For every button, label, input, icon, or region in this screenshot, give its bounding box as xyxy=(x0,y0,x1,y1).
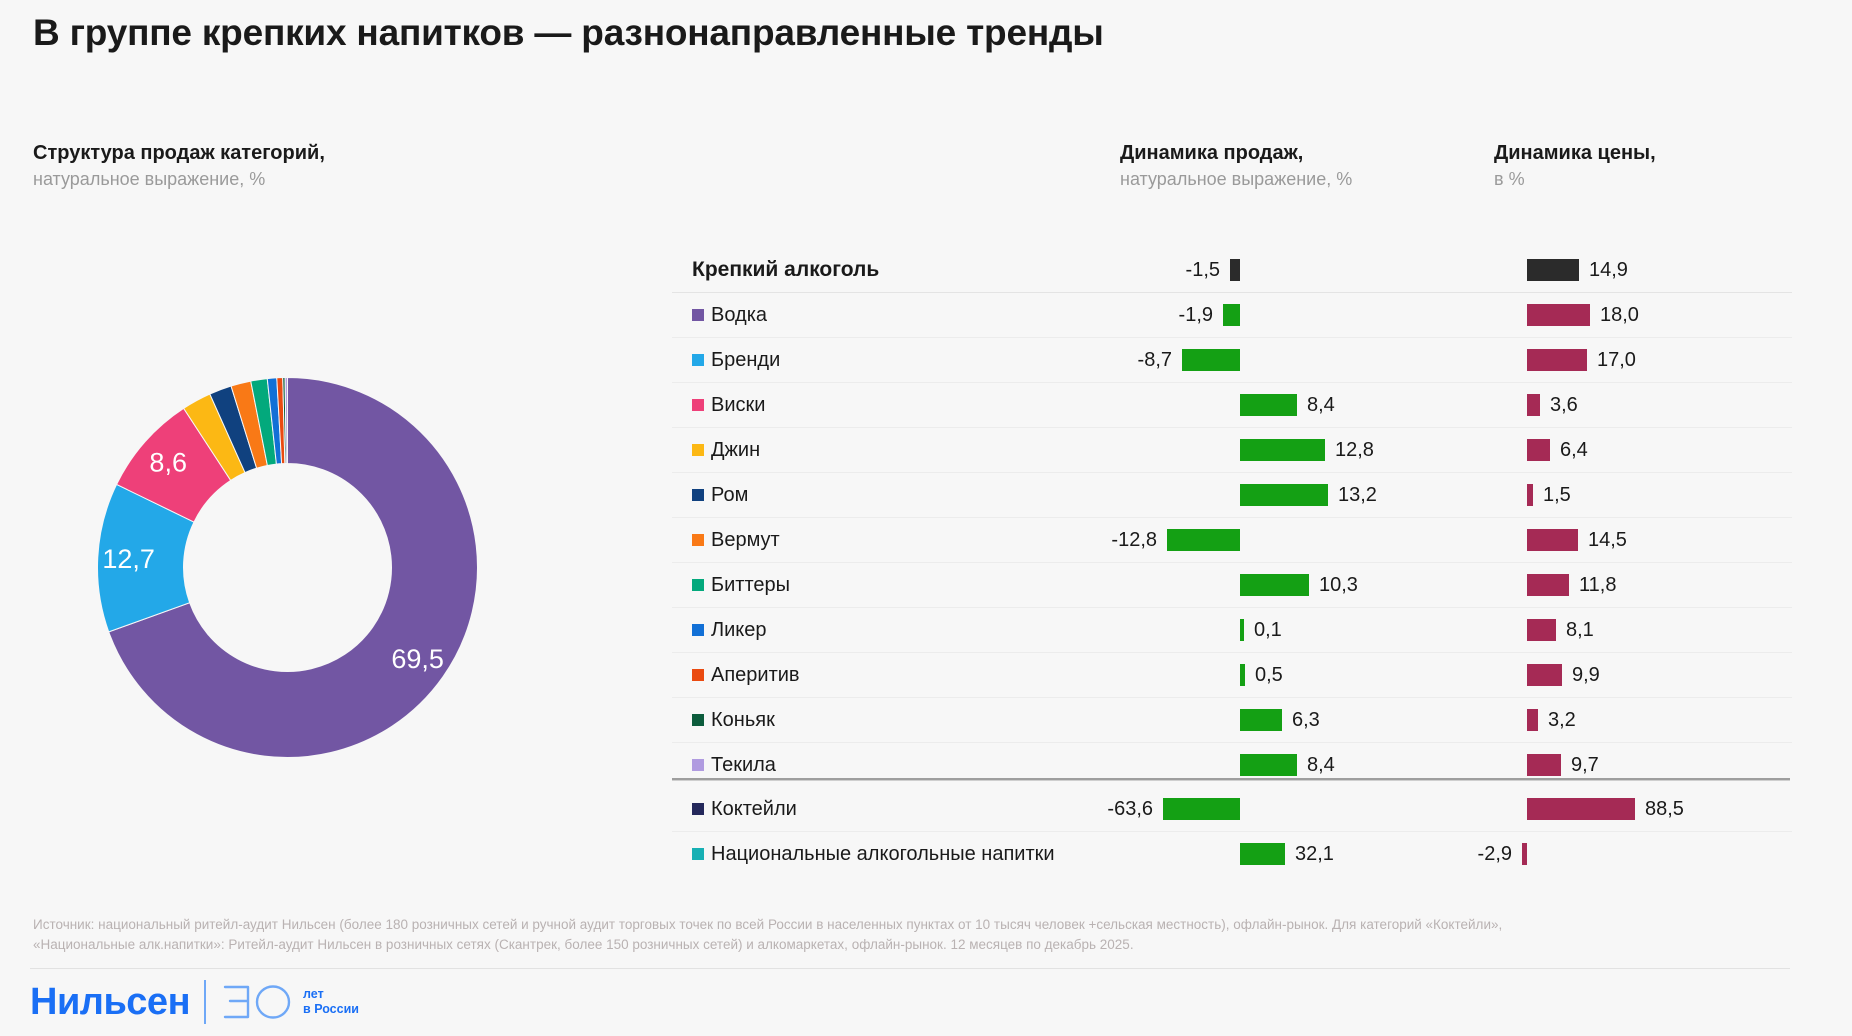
legend-swatch-icon xyxy=(692,759,704,771)
sales-value: 10,3 xyxy=(1319,563,1358,607)
category-label: Бренди xyxy=(711,349,780,372)
category-cell: Аперитив xyxy=(692,653,800,697)
legend-swatch-icon xyxy=(692,848,704,860)
table-row: Коктейли-63,688,5 xyxy=(672,787,1792,832)
logo-30-outline-icon xyxy=(220,981,294,1023)
category-cell: Коньяк xyxy=(692,698,775,742)
sales-bar xyxy=(1223,304,1240,326)
table-row: Виски8,43,6 xyxy=(672,383,1792,428)
sales-bar xyxy=(1240,574,1309,596)
column-header-price-sub: в % xyxy=(1494,166,1656,192)
table-row: Биттеры10,311,8 xyxy=(672,563,1792,608)
sales-bar xyxy=(1182,349,1240,371)
price-value: 11,8 xyxy=(1579,563,1616,607)
category-cell: Виски xyxy=(692,383,765,427)
sales-bar xyxy=(1240,754,1297,776)
category-cell: Вермут xyxy=(692,518,780,562)
sales-value: -1,5 xyxy=(1186,248,1220,292)
category-cell: Ром xyxy=(692,473,748,517)
category-label: Коньяк xyxy=(711,709,775,732)
donut-chart-svg: 69,512,78,6 xyxy=(55,335,520,800)
sales-bar xyxy=(1167,529,1240,551)
group-divider xyxy=(672,778,1790,781)
legend-swatch-icon xyxy=(692,354,704,366)
logo-anniversary-line-1: лет xyxy=(303,987,359,1002)
category-label: Ром xyxy=(711,484,748,507)
price-value: 18,0 xyxy=(1600,293,1639,337)
category-cell: Коктейли xyxy=(692,787,797,831)
price-value: -2,9 xyxy=(1478,832,1512,876)
price-value: 3,2 xyxy=(1548,698,1576,742)
price-bar xyxy=(1527,798,1635,820)
table-row: Коньяк6,33,2 xyxy=(672,698,1792,743)
sales-value: 32,1 xyxy=(1295,832,1334,876)
column-header-price-main: Динамика цены, xyxy=(1494,140,1656,166)
category-cell: Джин xyxy=(692,428,760,472)
sales-value: -12,8 xyxy=(1111,518,1157,562)
price-value: 6,4 xyxy=(1560,428,1588,472)
price-value: 1,5 xyxy=(1543,473,1571,517)
price-bar xyxy=(1527,709,1538,731)
category-label: Вермут xyxy=(711,529,780,552)
category-label: Национальные алкогольные напитки xyxy=(711,843,1055,866)
table-row: Ликер0,18,1 xyxy=(672,608,1792,653)
category-label: Крепкий алкоголь xyxy=(692,258,879,282)
sales-value: 13,2 xyxy=(1338,473,1377,517)
sales-value: 8,4 xyxy=(1307,383,1335,427)
legend-swatch-icon xyxy=(692,624,704,636)
legend-swatch-icon xyxy=(692,803,704,815)
category-cell: Бренди xyxy=(692,338,780,382)
column-header-sales: Динамика продаж, натуральное выражение, … xyxy=(1120,140,1352,192)
donut-slice-label: 12,7 xyxy=(102,544,155,574)
table-row: Крепкий алкоголь-1,514,9 xyxy=(672,248,1792,293)
sales-value: 0,5 xyxy=(1255,653,1283,697)
sales-bar xyxy=(1240,619,1244,641)
price-bar xyxy=(1527,304,1590,326)
price-bar xyxy=(1527,619,1556,641)
sales-value: 12,8 xyxy=(1335,428,1374,472)
price-value: 9,9 xyxy=(1572,653,1600,697)
sales-bar xyxy=(1240,484,1328,506)
table-row: Национальные алкогольные напитки32,1-2,9 xyxy=(672,832,1792,876)
legend-swatch-icon xyxy=(692,309,704,321)
category-cell: Ликер xyxy=(692,608,767,652)
category-cell: Крепкий алкоголь xyxy=(692,248,879,292)
legend-swatch-icon xyxy=(692,669,704,681)
legend-swatch-icon xyxy=(692,444,704,456)
table-row: Бренди-8,717,0 xyxy=(672,338,1792,383)
sales-bar xyxy=(1240,664,1245,686)
sales-value: -63,6 xyxy=(1107,787,1153,831)
category-label: Текила xyxy=(711,754,776,777)
category-label: Виски xyxy=(711,394,765,417)
price-value: 3,6 xyxy=(1550,383,1578,427)
price-bar xyxy=(1527,574,1569,596)
category-cell: Национальные алкогольные напитки xyxy=(692,832,1055,876)
sales-value: 6,3 xyxy=(1292,698,1320,742)
category-label: Ликер xyxy=(711,619,767,642)
sales-value: 0,1 xyxy=(1254,608,1282,652)
column-header-structure: Структура продаж категорий, натуральное … xyxy=(33,140,325,192)
category-label: Аперитив xyxy=(711,664,800,687)
legend-swatch-icon xyxy=(692,534,704,546)
donut-chart: 69,512,78,6 xyxy=(55,335,520,800)
price-bar xyxy=(1527,349,1587,371)
sales-bar xyxy=(1163,798,1240,820)
price-bar xyxy=(1527,259,1579,281)
price-value: 8,1 xyxy=(1566,608,1594,652)
table-row: Водка-1,918,0 xyxy=(672,293,1792,338)
price-bar xyxy=(1527,484,1533,506)
price-value: 17,0 xyxy=(1597,338,1636,382)
column-header-structure-main: Структура продаж категорий, xyxy=(33,140,325,166)
source-note-line-1: Источник: национальный ритейл-аудит Ниль… xyxy=(33,915,1793,935)
column-header-structure-sub: натуральное выражение, % xyxy=(33,166,325,192)
price-bar xyxy=(1527,664,1562,686)
donut-slice-label: 8,6 xyxy=(149,447,187,477)
price-value: 14,9 xyxy=(1589,248,1628,292)
category-cell: Водка xyxy=(692,293,767,337)
metrics-table: Крепкий алкоголь-1,514,9Водка-1,918,0Бре… xyxy=(672,248,1792,876)
source-note-line-2: «Национальные алк.напитки»: Ритейл-аудит… xyxy=(33,935,1793,955)
sales-value: -1,9 xyxy=(1179,293,1213,337)
sales-bar xyxy=(1240,394,1297,416)
price-bar xyxy=(1527,439,1550,461)
donut-slice-label: 69,5 xyxy=(391,644,444,674)
category-label: Биттеры xyxy=(711,574,790,597)
logo-anniversary-line-2: в России xyxy=(303,1002,359,1017)
price-value: 88,5 xyxy=(1645,787,1684,831)
column-header-price: Динамика цены, в % xyxy=(1494,140,1656,192)
legend-swatch-icon xyxy=(692,579,704,591)
source-note: Источник: национальный ритейл-аудит Ниль… xyxy=(33,915,1793,955)
table-row: Ром13,21,5 xyxy=(672,473,1792,518)
price-bar xyxy=(1527,754,1561,776)
logo-brand-text: Нильсен xyxy=(30,983,190,1021)
legend-swatch-icon xyxy=(692,714,704,726)
table-row: Аперитив0,59,9 xyxy=(672,653,1792,698)
sales-bar xyxy=(1240,439,1325,461)
table-row: Вермут-12,814,5 xyxy=(672,518,1792,563)
logo-anniversary: лет в России xyxy=(220,981,359,1023)
category-label: Коктейли xyxy=(711,798,797,821)
sales-bar xyxy=(1240,709,1282,731)
nielsen-logo: Нильсен лет в России xyxy=(30,978,359,1026)
price-value: 14,5 xyxy=(1588,518,1627,562)
sales-bar xyxy=(1230,259,1240,281)
price-bar xyxy=(1522,843,1527,865)
category-cell: Биттеры xyxy=(692,563,790,607)
logo-separator xyxy=(30,968,1790,969)
logo-divider xyxy=(204,980,206,1024)
column-header-sales-main: Динамика продаж, xyxy=(1120,140,1352,166)
sales-bar xyxy=(1240,843,1285,865)
category-label: Водка xyxy=(711,304,767,327)
price-bar xyxy=(1527,394,1540,416)
page-title: В группе крепких напитков — разнонаправл… xyxy=(33,12,1104,54)
column-header-sales-sub: натуральное выражение, % xyxy=(1120,166,1352,192)
price-bar xyxy=(1527,529,1578,551)
legend-swatch-icon xyxy=(692,489,704,501)
legend-swatch-icon xyxy=(692,399,704,411)
table-row: Джин12,86,4 xyxy=(672,428,1792,473)
category-label: Джин xyxy=(711,439,760,462)
sales-value: -8,7 xyxy=(1138,338,1172,382)
